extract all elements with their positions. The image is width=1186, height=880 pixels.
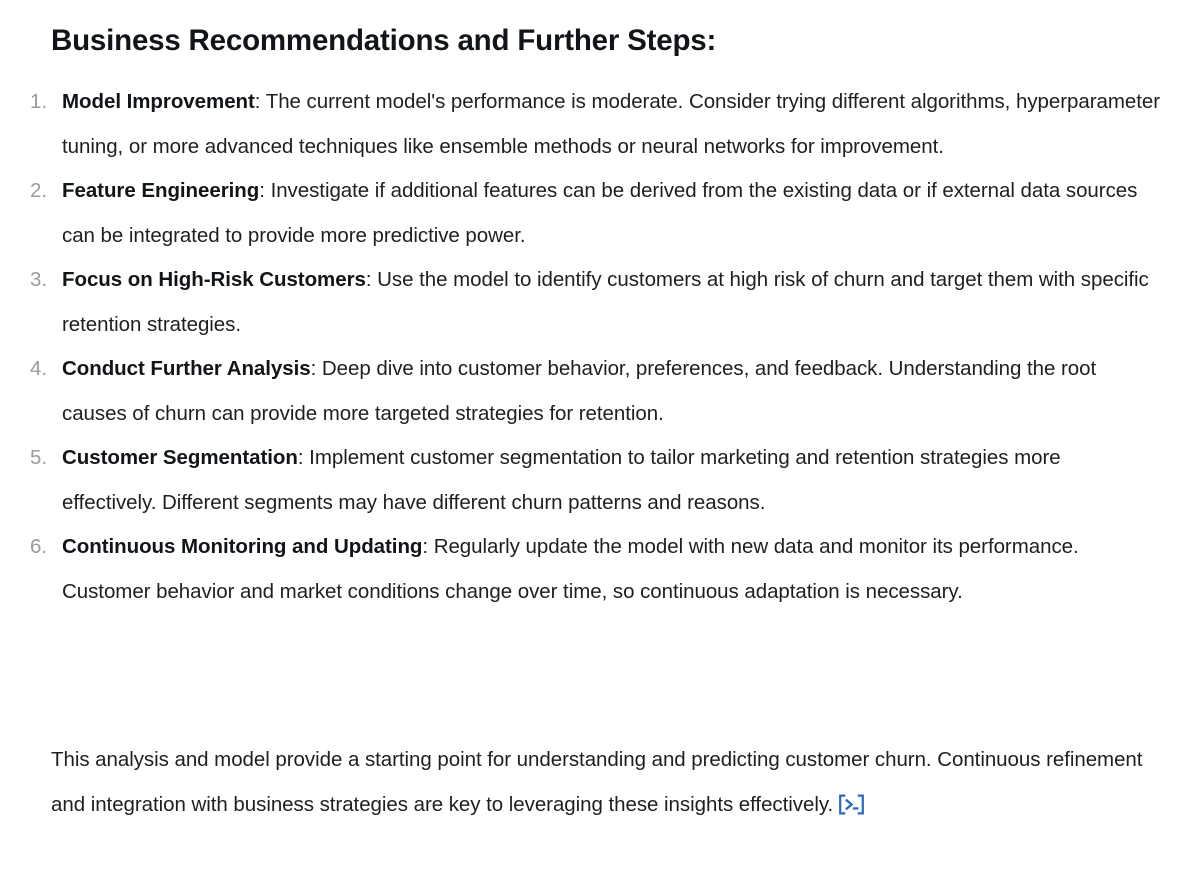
list-item-separator: : [422, 535, 433, 558]
list-item-separator: : [366, 268, 377, 291]
list-item: 2. Feature Engineering: Investigate if a… [0, 169, 1186, 258]
recommendations-list: 1. Model Improvement: The current model'… [0, 80, 1186, 614]
list-item-term: Feature Engineering [62, 179, 259, 202]
terminal-console-icon [838, 794, 865, 815]
list-item-number: 3. [30, 258, 56, 303]
list-item-separator: : [255, 90, 266, 113]
list-item-number: 4. [30, 347, 56, 392]
list-item-number: 2. [30, 169, 56, 214]
list-item-term: Conduct Further Analysis [62, 357, 311, 380]
list-item-term: Continuous Monitoring and Updating [62, 535, 422, 558]
list-item-separator: : [311, 357, 322, 380]
list-item-number: 1. [30, 80, 56, 125]
list-item-number: 5. [30, 436, 56, 481]
list-item: 4. Conduct Further Analysis: Deep dive i… [0, 347, 1186, 436]
list-item-separator: : [259, 179, 270, 202]
list-item: 3. Focus on High-Risk Customers: Use the… [0, 258, 1186, 347]
list-item-term: Focus on High-Risk Customers [62, 268, 366, 291]
document-page: Business Recommendations and Further Ste… [0, 0, 1186, 880]
closing-paragraph: This analysis and model provide a starti… [51, 738, 1163, 827]
closing-paragraph-text: This analysis and model provide a starti… [51, 748, 1142, 816]
list-item: 5. Customer Segmentation: Implement cust… [0, 436, 1186, 525]
list-item-term: Model Improvement [62, 90, 255, 113]
list-item-number: 6. [30, 525, 56, 570]
list-item-term: Customer Segmentation [62, 446, 298, 469]
page-title: Business Recommendations and Further Ste… [51, 21, 716, 61]
list-item: 1. Model Improvement: The current model'… [0, 80, 1186, 169]
list-item-separator: : [298, 446, 309, 469]
list-item: 6. Continuous Monitoring and Updating: R… [0, 525, 1186, 614]
